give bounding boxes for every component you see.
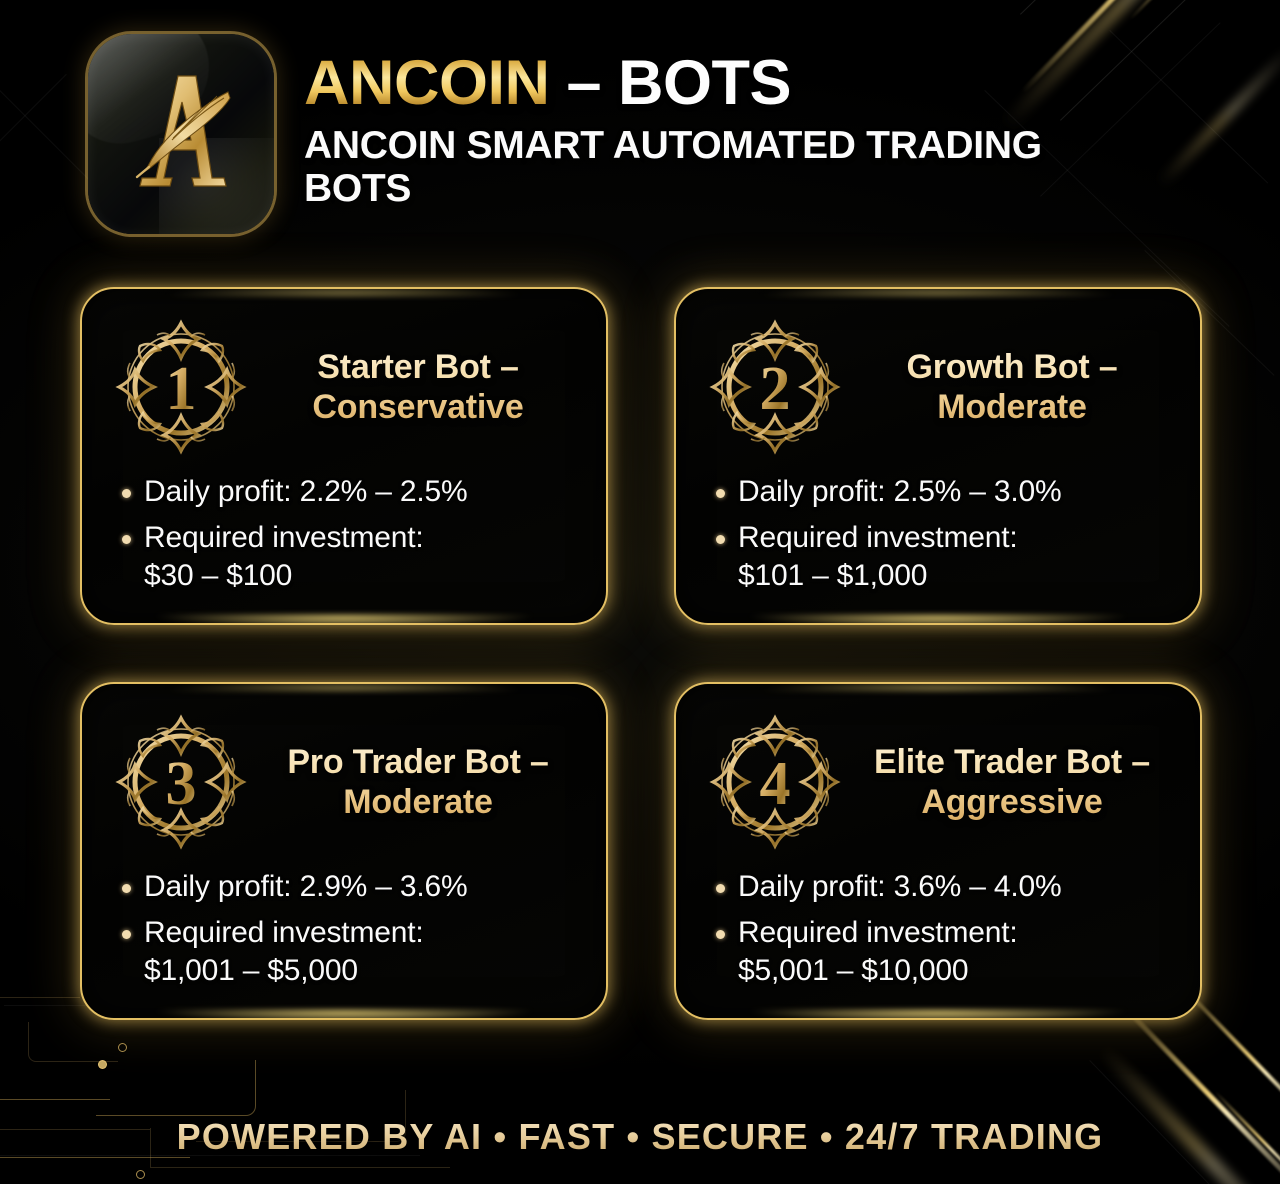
list-item: Required investment:$1,001 – $5,000 bbox=[114, 914, 580, 990]
circuit-node-icon bbox=[98, 1060, 107, 1069]
list-item: Daily profit: 2.2% – 2.5% bbox=[114, 473, 580, 511]
footer-tagline: POWERED BY AI • FAST • SECURE • 24/7 TRA… bbox=[0, 1116, 1280, 1158]
ornate-number-badge-icon: 1 bbox=[108, 311, 254, 463]
geo-line bbox=[0, 60, 97, 188]
gold-streak bbox=[1129, 0, 1270, 21]
badge-number: 1 bbox=[166, 355, 197, 423]
bot-plan-card[interactable]: 2 Growth Bot – Moderate Daily profit: 2.… bbox=[674, 287, 1202, 625]
bullet-text-line2: $1,001 – $5,000 bbox=[144, 952, 580, 990]
bullet-text: Required investment: bbox=[144, 521, 423, 554]
circuit-node-icon bbox=[118, 1043, 127, 1052]
card-bullet-list: Daily profit: 3.6% – 4.0% Required inves… bbox=[702, 868, 1174, 989]
bullet-text: Required investment: bbox=[144, 916, 423, 949]
circuit-trace bbox=[28, 1022, 118, 1062]
ornate-number-badge-icon: 3 bbox=[108, 706, 254, 858]
bot-plan-card[interactable]: 1 Starter Bot – Conservative Daily profi… bbox=[80, 287, 608, 625]
badge-number: 2 bbox=[760, 355, 791, 423]
ornate-number-badge-icon: 2 bbox=[702, 311, 848, 463]
card-title: Elite Trader Bot – Aggressive bbox=[856, 742, 1174, 822]
ancoin-a-feather-logo-icon bbox=[88, 34, 274, 234]
promo-banner: ANCOIN – BOTS ANCOIN SMART AUTOMATED TRA… bbox=[0, 0, 1280, 1184]
card-bullet-list: Daily profit: 2.5% – 3.0% Required inves… bbox=[702, 473, 1174, 594]
card-header: 1 Starter Bot – Conservative bbox=[108, 311, 580, 463]
title-block: ANCOIN – BOTS ANCOIN SMART AUTOMATED TRA… bbox=[304, 34, 1044, 211]
bullet-text-line2: $101 – $1,000 bbox=[738, 557, 1174, 595]
badge-number: 3 bbox=[166, 750, 197, 818]
card-header: 3 Pro Trader Bot – Moderate bbox=[108, 706, 580, 858]
geo-line bbox=[1060, 0, 1248, 121]
card-bullet-list: Daily profit: 2.9% – 3.6% Required inves… bbox=[108, 868, 580, 989]
page-title: ANCOIN – BOTS bbox=[304, 52, 1044, 115]
bullet-text: Daily profit: 2.2% – 2.5% bbox=[144, 475, 468, 508]
geo-line bbox=[1040, 22, 1221, 196]
ornate-number-badge-icon: 4 bbox=[702, 706, 848, 858]
circuit-node-icon bbox=[136, 1170, 145, 1179]
badge-number: 4 bbox=[760, 750, 791, 818]
bullet-text-line2: $30 – $100 bbox=[144, 557, 580, 595]
bullet-text: Required investment: bbox=[738, 521, 1017, 554]
bullet-text-line2: $5,001 – $10,000 bbox=[738, 952, 1174, 990]
circuit-trace bbox=[0, 950, 80, 998]
gold-streak-glow bbox=[1157, 45, 1280, 188]
circuit-trace bbox=[96, 1060, 256, 1116]
bullet-text: Daily profit: 2.5% – 3.0% bbox=[738, 475, 1062, 508]
title-suffix: – BOTS bbox=[550, 48, 792, 118]
geo-line bbox=[1109, 30, 1268, 184]
card-header: 4 Elite Trader Bot – Aggressive bbox=[702, 706, 1174, 858]
bot-plan-card[interactable]: 4 Elite Trader Bot – Aggressive Daily pr… bbox=[674, 682, 1202, 1020]
bot-plan-card[interactable]: 3 Pro Trader Bot – Moderate Daily profit… bbox=[80, 682, 608, 1020]
bot-plan-grid: 1 Starter Bot – Conservative Daily profi… bbox=[80, 287, 1202, 1020]
card-bullet-list: Daily profit: 2.2% – 2.5% Required inves… bbox=[108, 473, 580, 594]
list-item: Required investment:$101 – $1,000 bbox=[708, 519, 1174, 595]
gold-streak-glow bbox=[1095, 1042, 1280, 1184]
list-item: Daily profit: 2.5% – 3.0% bbox=[708, 473, 1174, 511]
geo-line bbox=[1020, 0, 1236, 15]
ancoin-logo bbox=[88, 34, 274, 234]
gold-streak bbox=[1020, 0, 1253, 94]
bullet-text: Required investment: bbox=[738, 916, 1017, 949]
page-subtitle: ANCOIN SMART AUTOMATED TRADING BOTS bbox=[304, 125, 1044, 211]
card-title: Starter Bot – Conservative bbox=[262, 347, 580, 427]
card-title: Pro Trader Bot – Moderate bbox=[262, 742, 580, 822]
circuit-trace bbox=[0, 1040, 110, 1100]
header: ANCOIN – BOTS ANCOIN SMART AUTOMATED TRA… bbox=[88, 34, 1044, 234]
brand-name: ANCOIN bbox=[304, 48, 550, 118]
bullet-text: Daily profit: 3.6% – 4.0% bbox=[738, 870, 1062, 903]
list-item: Daily profit: 3.6% – 4.0% bbox=[708, 868, 1174, 906]
list-item: Required investment:$30 – $100 bbox=[114, 519, 580, 595]
geo-line bbox=[0, 74, 67, 181]
card-header: 2 Growth Bot – Moderate bbox=[702, 311, 1174, 463]
bullet-text: Daily profit: 2.9% – 3.6% bbox=[144, 870, 468, 903]
list-item: Required investment:$5,001 – $10,000 bbox=[708, 914, 1174, 990]
list-item: Daily profit: 2.9% – 3.6% bbox=[114, 868, 580, 906]
card-title: Growth Bot – Moderate bbox=[856, 347, 1174, 427]
